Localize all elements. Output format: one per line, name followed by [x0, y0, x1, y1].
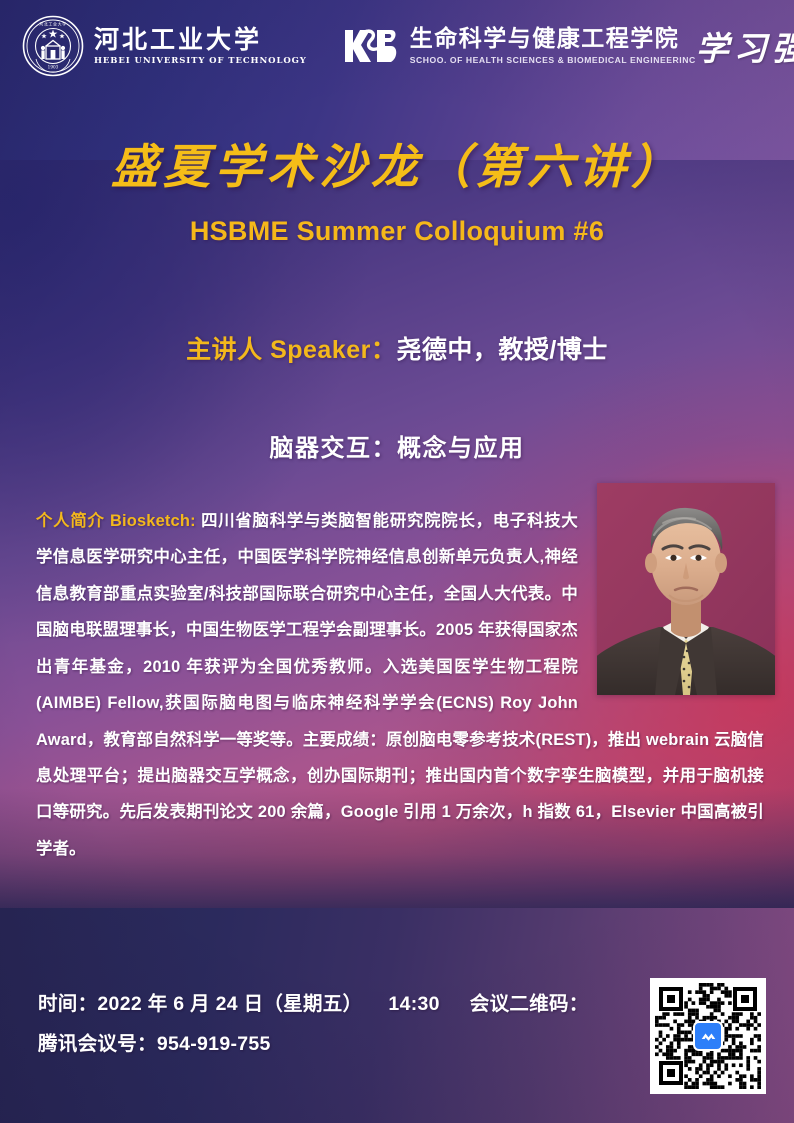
university-seal-icon: 1903 河北工业大学 [22, 15, 84, 77]
biosketch-label: 个人简介 Biosketch: [36, 512, 196, 530]
biosketch-paragraph: 个人简介 Biosketch: 四川省脑科学与类脑智能研究院院长，电子科技大学信… [36, 503, 764, 867]
hebut-name-en: HEBEI UNIVERSITY OF TECHNOLOGY [94, 57, 307, 66]
time-label: 时间： [38, 993, 97, 1015]
poster-title-cn: 盛夏学术沙龙（第六讲） [0, 128, 794, 197]
talk-topic: 脑器交互：概念与应用 [0, 428, 794, 463]
hebut-wordmark: 河北工业大学 HEBEI UNIVERSITY OF TECHNOLOGY [94, 27, 307, 66]
svg-text:1903: 1903 [48, 65, 59, 70]
program-name: 学习强院 [696, 22, 794, 70]
hebut-name-cn: 河北工业大学 [94, 25, 262, 54]
hsbme-name-en: SCHOO. OF HEALTH SCIENCES & BIOMEDICAL E… [410, 56, 696, 65]
program-logo: 学习强院 计划 [696, 22, 794, 70]
svg-text:河北工业大学: 河北工业大学 [39, 21, 67, 27]
hsbme-name-cn: 生命科学与健康工程学院 [410, 28, 696, 51]
meeting-qr-code[interactable] [650, 978, 766, 1094]
event-time-row: 时间：2022 年 6 月 24 日（星期五）14:30会议二维码： [38, 985, 589, 1025]
qr-canvas [655, 983, 761, 1089]
speaker-line: 主讲人 Speaker：尧德中，教授/博士 [0, 330, 794, 366]
meeting-label: 腾讯会议号： [38, 1033, 157, 1055]
hsbme-logo: 生命科学与健康工程学院 SCHOO. OF HEALTH SCIENCES & … [341, 24, 696, 68]
event-details: 时间：2022 年 6 月 24 日（星期五）14:30会议二维码： 腾讯会议号… [38, 985, 589, 1065]
hebut-logo: 1903 河北工业大学 河北工业大学 HEBEI UNIVERSITY OF T… [22, 15, 307, 77]
event-clock: 14:30 [388, 993, 439, 1015]
portrait-text-wrap-spacer [578, 503, 764, 701]
hsbme-wordmark: 生命科学与健康工程学院 SCHOO. OF HEALTH SCIENCES & … [410, 28, 696, 65]
meeting-id: 954-919-755 [157, 1033, 271, 1055]
qr-label: 会议二维码： [470, 993, 589, 1015]
speaker-label: 主讲人 Speaker： [186, 336, 396, 364]
poster-title-en: HSBME Summer Colloquium #6 [0, 216, 794, 247]
speaker-name: 尧德中，教授/博士 [396, 336, 607, 364]
meeting-row: 腾讯会议号：954-919-755 [38, 1025, 589, 1065]
poster-header: 1903 河北工业大学 河北工业大学 HEBEI UNIVERSITY OF T… [0, 0, 794, 92]
tencent-meeting-logo-icon [693, 1021, 723, 1051]
event-date: 2022 年 6 月 24 日（星期五） [97, 993, 362, 1015]
hsbme-monogram-icon [341, 24, 399, 68]
poster-root: 1903 河北工业大学 河北工业大学 HEBEI UNIVERSITY OF T… [0, 0, 794, 1123]
